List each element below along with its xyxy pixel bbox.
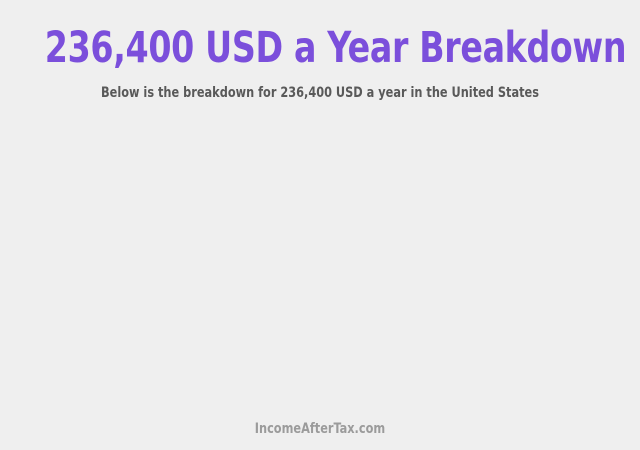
page-title: 236,400 USD a Year Breakdown — [45, 24, 595, 72]
chart-plot-area — [0, 118, 640, 406]
income-breakdown-page: 236,400 USD a Year Breakdown Below is th… — [0, 0, 640, 450]
page-subtitle: Below is the breakdown for 236,400 USD a… — [32, 84, 608, 102]
site-watermark: IncomeAfterTax.com — [32, 420, 608, 438]
